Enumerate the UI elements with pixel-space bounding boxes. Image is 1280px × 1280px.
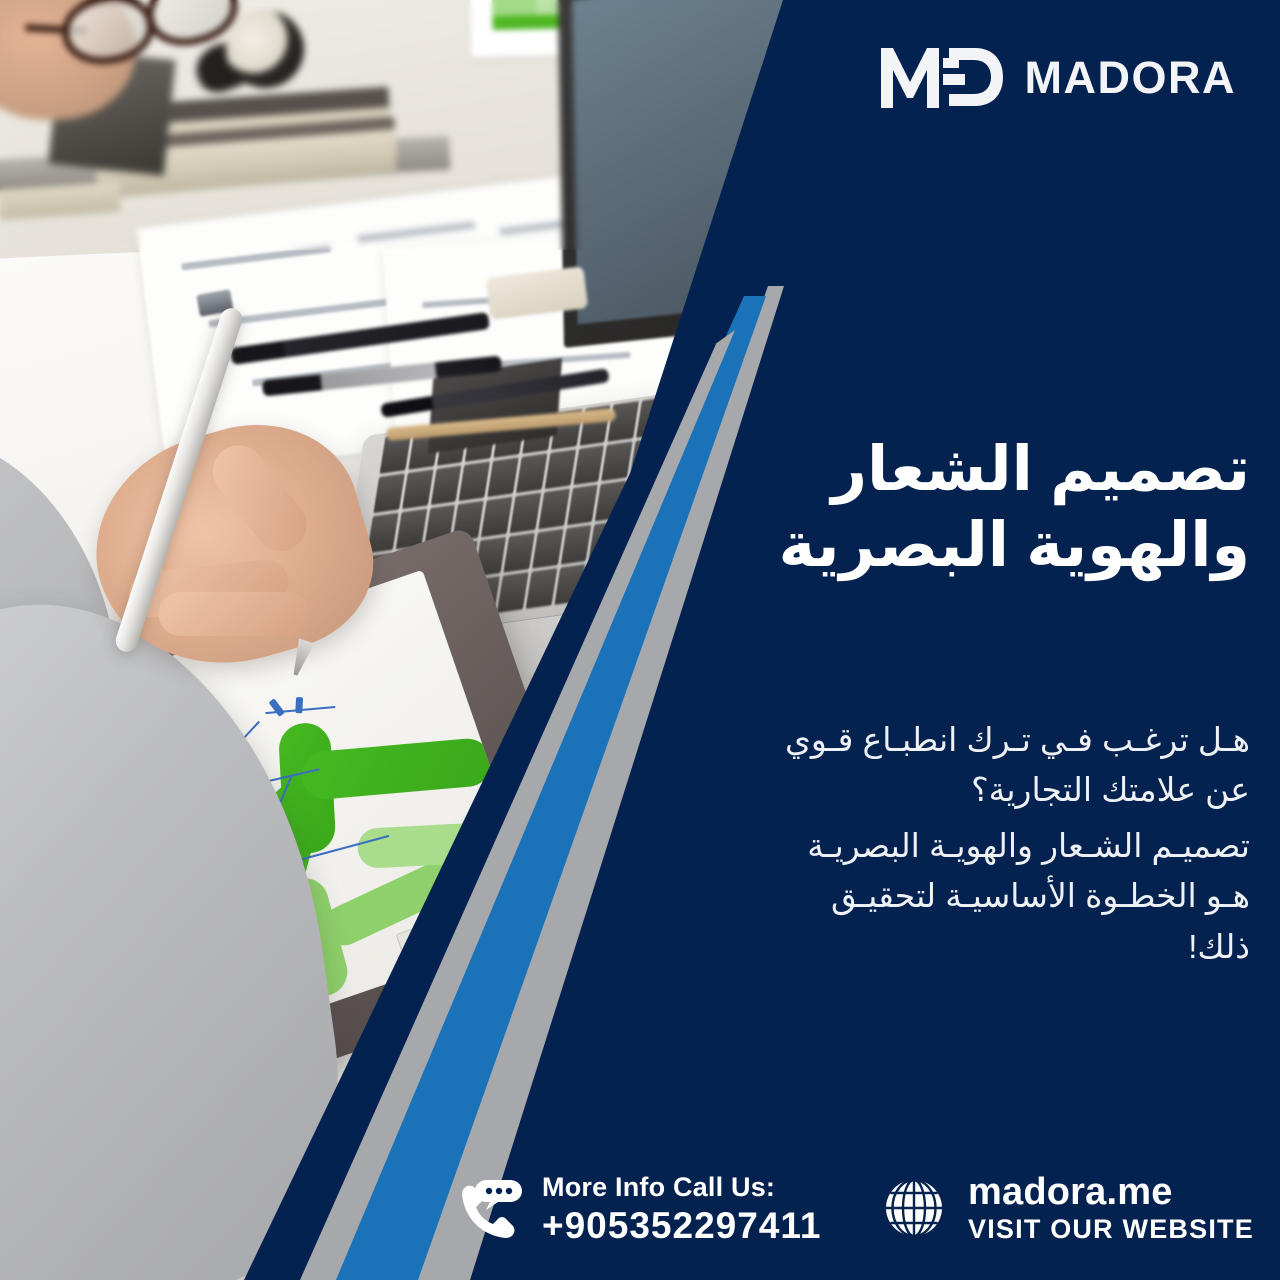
- website-block[interactable]: madora.me VISIT OUR WEBSITE: [878, 1172, 1254, 1245]
- body-p1-line-2: عن علامتك التجارية؟: [971, 771, 1250, 808]
- md-monogram-logo-icon: [879, 44, 1005, 110]
- headline-line-1: تصميم الشعار: [650, 432, 1250, 508]
- body-p2-line-2: هـو الخطـوة الأساسيـة لتحقيـق: [831, 877, 1250, 914]
- website-url[interactable]: madora.me: [968, 1172, 1254, 1214]
- headline-line-2: والهوية البصرية: [650, 508, 1250, 584]
- phone-chat-icon: [452, 1174, 524, 1246]
- body-p2-line-1: تصميـم الشـعار والهويـة البصريـة: [807, 827, 1250, 864]
- background-photo: [0, 0, 880, 1280]
- brand-name: MADORA: [1025, 55, 1236, 100]
- body-paragraph-1: هـل ترغـب فـي تـرك انطبـاع قـوي عن علامت…: [640, 715, 1250, 815]
- phone-number[interactable]: +905352297411: [542, 1204, 822, 1248]
- website-cta-label: VISIT OUR WEBSITE: [968, 1214, 1254, 1245]
- call-us-block[interactable]: More Info Call Us: +905352297411: [452, 1172, 822, 1248]
- brand-logo[interactable]: MADORA: [879, 44, 1236, 110]
- depth-blur-overlay: [0, 0, 880, 250]
- body-paragraph-2: تصميـم الشـعار والهويـة البصريـة هـو الخ…: [640, 821, 1250, 971]
- page-title: تصميم الشعار والهوية البصرية: [650, 432, 1250, 583]
- globe-icon: [878, 1172, 950, 1244]
- body-copy: هـل ترغـب فـي تـرك انطبـاع قـوي عن علامت…: [640, 715, 1250, 978]
- body-p1-line-1: هـل ترغـب فـي تـرك انطبـاع قـوي: [785, 721, 1250, 758]
- call-us-label: More Info Call Us:: [542, 1172, 822, 1204]
- social-post-canvas: MADORA تصميم الشعار والهوية البصرية هـل …: [0, 0, 1280, 1280]
- body-p2-line-3: ذلك!: [1188, 928, 1250, 965]
- footer-bar: More Info Call Us: +905352297411 madora.…: [0, 1162, 1280, 1280]
